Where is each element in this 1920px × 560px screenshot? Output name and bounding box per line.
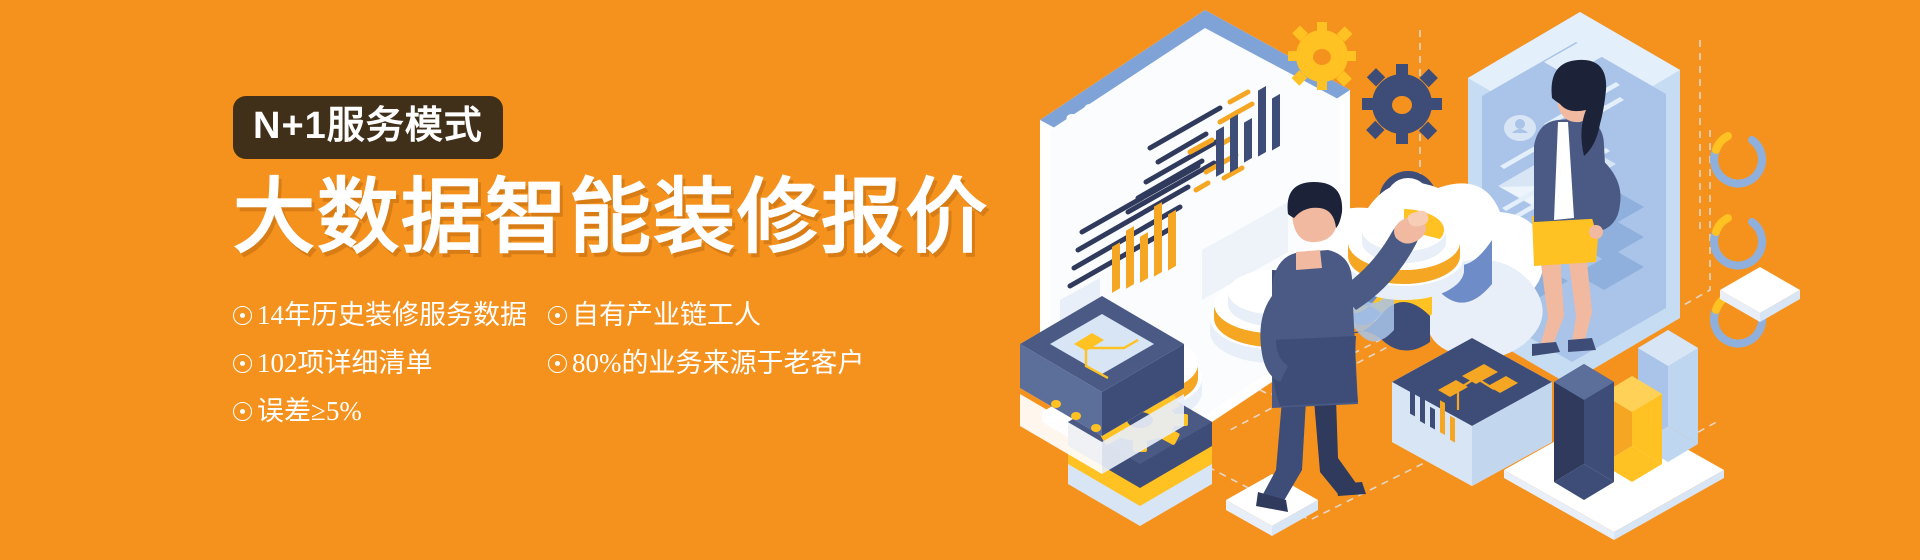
circle-dot-icon (233, 354, 252, 373)
gear-navy (1362, 64, 1442, 144)
shoe (1568, 338, 1596, 352)
service-model-badge: N+1服务模式 (233, 96, 503, 159)
feature-item: 102项详细清单 (233, 350, 548, 377)
promo-banner: N+1服务模式 大数据智能装修报价 14年历史装修服务数据 自有产业链工人 10… (0, 0, 1920, 560)
bar-navy (1554, 364, 1614, 500)
feature-label: 误差≥5% (257, 398, 362, 425)
feature-item: 误差≥5% (233, 398, 548, 425)
feature-label: 80%的业务来源于老客户 (572, 350, 865, 377)
feature-label: 14年历史装修服务数据 (257, 302, 527, 329)
banner-text-block: N+1服务模式 大数据智能装修报价 14年历史装修服务数据 自有产业链工人 10… (233, 96, 993, 436)
feature-label: 自有产业链工人 (572, 302, 761, 329)
circle-dot-icon (233, 402, 252, 421)
banner-headline: 大数据智能装修报价 (233, 175, 993, 262)
feature-label: 102项详细清单 (257, 350, 433, 377)
gear-yellow (1288, 22, 1356, 90)
shoe (1336, 482, 1366, 496)
feature-item: 14年历史装修服务数据 (233, 302, 548, 329)
feature-item: 自有产业链工人 (548, 302, 993, 329)
feature-list: 14年历史装修服务数据 自有产业链工人 102项详细清单 80%的业务来源于老客… (233, 292, 993, 436)
circle-dot-icon (548, 306, 567, 325)
big-data-illustration (1020, 0, 1920, 560)
circle-dot-icon (233, 306, 252, 325)
circle-dot-icon (548, 354, 567, 373)
feature-item: 80%的业务来源于老客户 (548, 350, 993, 377)
